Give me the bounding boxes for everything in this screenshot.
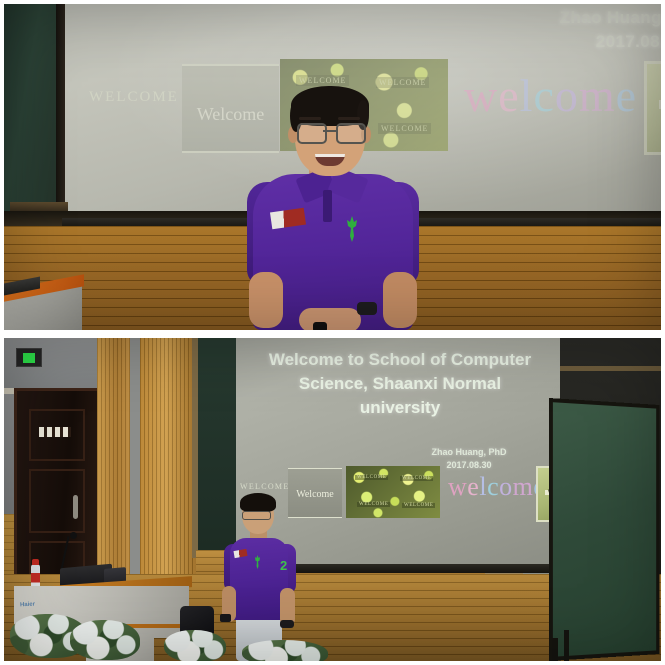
script-letter: l <box>479 472 487 501</box>
slide-presenter-name-bottom: Zhao Huang, PhD <box>384 446 554 459</box>
script-letter: l <box>520 70 534 121</box>
sleeve-number-bottom: 2 <box>280 558 287 573</box>
script-letter: w <box>448 472 467 501</box>
script-letter: m <box>579 70 616 121</box>
chalkboard-frame-left-bottom <box>192 338 198 558</box>
presenter-brow-right-top <box>338 117 360 120</box>
slide-title-line-1: Welcome to School of Computer <box>244 348 556 372</box>
eyeglasses-icon-bottom <box>242 511 271 520</box>
banner-mosaic-bottom: WELCOME WELCOME WELCOME WELCOME <box>346 466 440 518</box>
script-letter: o <box>499 472 513 501</box>
script-letter: e <box>498 70 519 121</box>
script-letter: c <box>533 70 554 121</box>
wristwatch-icon-top <box>357 302 377 315</box>
polo-player-logo-icon-bottom <box>253 554 262 570</box>
door <box>14 388 100 584</box>
mosaic-tile: WELCOME <box>355 475 388 480</box>
right-wall-trim-bottom <box>560 366 661 371</box>
podium-brand-label: Haier <box>20 602 35 609</box>
photo-top: Zhao Huang, 2017.08.3 WELCOME Welcome WE… <box>4 4 661 330</box>
script-letter: e <box>616 70 637 121</box>
slide-date-top: 2017.08.3 <box>596 32 661 52</box>
mosaic-tile: WELCOME <box>357 502 390 507</box>
banner-script-word-bottom: welcome <box>448 472 548 514</box>
presenter-arm-left-top <box>249 272 283 328</box>
script-letter: c <box>487 472 499 501</box>
script-letter: w <box>464 70 498 121</box>
presenter-bottom: 2 <box>222 496 300 661</box>
photo-bottom: Welcome to School of Computer Science, S… <box>4 338 661 661</box>
presentation-clicker-bottom <box>220 614 231 622</box>
banner-plain-word-bottom: WELCOME <box>240 482 290 491</box>
script-letter: m <box>513 472 534 501</box>
polo-player-logo-icon <box>343 214 361 244</box>
framed-picture-label-top: WELCOME <box>659 100 661 109</box>
eyeglasses-icon-right-top <box>336 123 366 144</box>
door-handle-icon <box>73 495 78 519</box>
slide-title-line-2: Science, Shaanxi Normal <box>244 372 556 396</box>
camouflage-bundle <box>70 620 140 660</box>
eyeglasses-icon-left-top <box>297 123 327 144</box>
presentation-clicker-top <box>313 322 327 330</box>
presenter-brow-left-top <box>299 117 321 120</box>
wood-column-left <box>97 338 130 590</box>
camouflage-bundle <box>164 630 226 661</box>
presenter-arm-right-top <box>383 272 417 328</box>
camouflage-bundle <box>242 640 328 661</box>
presenter-top <box>247 86 417 330</box>
presenter-hair-bottom <box>240 493 276 512</box>
exit-sign-icon <box>16 348 42 367</box>
banner-script-word-top: welcome <box>464 69 634 147</box>
photo-collage: Zhao Huang, 2017.08.3 WELCOME Welcome WE… <box>0 0 665 665</box>
slide-title-line-3: university <box>244 396 556 420</box>
mosaic-tile: WELCOME <box>400 476 433 481</box>
water-bottle-cap <box>32 559 39 565</box>
presenter-placket-top <box>323 190 332 222</box>
slide-presenter-name-top: Zhao Huang, <box>560 8 661 28</box>
slide-title-bottom: Welcome to School of Computer Science, S… <box>244 348 556 420</box>
banner-plain-word-top: WELCOME <box>89 89 179 106</box>
chalkboard-leg-right <box>564 630 569 661</box>
chalkboard-right-bottom <box>549 398 660 661</box>
chalkboard-top <box>4 4 60 211</box>
script-letter: e <box>467 472 479 501</box>
door-vent-icon <box>39 427 71 437</box>
mosaic-tile: WELCOME <box>296 75 349 86</box>
mosaic-tile: WELCOME <box>402 503 435 508</box>
wristwatch-icon-bottom <box>280 620 294 628</box>
microphone-icon <box>70 532 77 539</box>
wall-gap-bottom <box>130 338 140 590</box>
chalkboard-leg-left <box>552 638 558 661</box>
eyeglasses-bridge-top <box>323 130 336 132</box>
script-letter: o <box>555 70 579 121</box>
presenter-hands-top <box>299 308 361 330</box>
banner-framed-picture-top: WELCOME <box>644 61 661 155</box>
